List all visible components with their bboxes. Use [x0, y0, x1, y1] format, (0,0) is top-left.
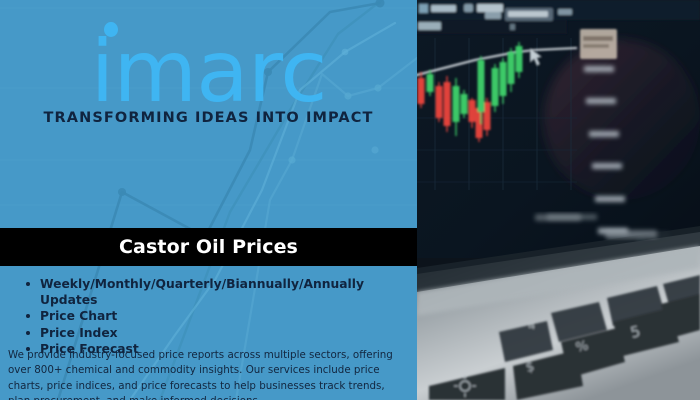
trading-chart-photo: $ % 5 4 [417, 0, 700, 400]
description-paragraph: We provide industry-focused price report… [0, 348, 417, 400]
page-title: Castor Oil Prices [119, 236, 298, 258]
list-item: Price Chart [26, 308, 407, 324]
list-item-label: Price Chart [40, 309, 117, 323]
list-item: Price Index [26, 325, 407, 341]
bullet-icon [26, 282, 30, 286]
laptop-photo-illustration: $ % 5 4 [417, 0, 700, 400]
list-item-label: Weekly/Monthly/Quarterly/Biannually/Annu… [40, 277, 364, 307]
bullet-icon [26, 314, 30, 318]
left-content-panel: imarc TRANSFORMING IDEAS INTO IMPACT Cas… [0, 0, 417, 400]
list-item-label: Price Index [40, 326, 118, 340]
logo-wordmark-text: imarc [90, 22, 326, 122]
features-list: Weekly/Monthly/Quarterly/Biannually/Annu… [0, 276, 417, 357]
bullet-icon [26, 331, 30, 335]
page-title-bar: Castor Oil Prices [0, 228, 417, 266]
logo-wordmark: imarc [90, 14, 326, 114]
list-item: Weekly/Monthly/Quarterly/Biannually/Annu… [26, 276, 407, 308]
brand-logo: imarc TRANSFORMING IDEAS INTO IMPACT [0, 14, 417, 126]
castor-oil-prices-banner: imarc TRANSFORMING IDEAS INTO IMPACT Cas… [0, 0, 700, 400]
